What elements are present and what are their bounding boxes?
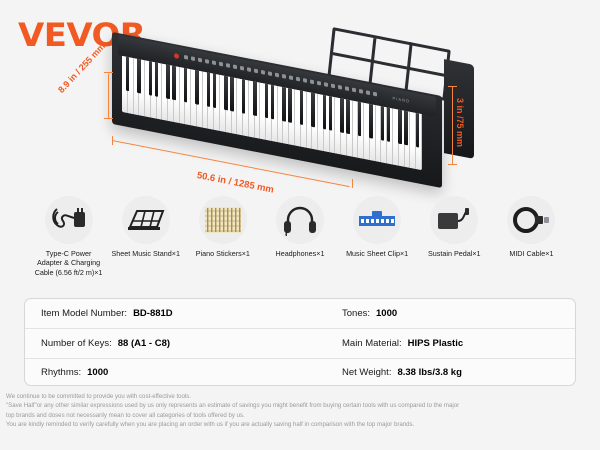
sheet-music-stand-icon — [122, 196, 170, 244]
spec-value: 1000 — [376, 308, 397, 319]
accessory-item-power-adapter: Type-C Power Adapter & Charging Cable (6… — [34, 196, 103, 277]
piano-brand-mark: PIANO — [393, 95, 410, 103]
depth-tick-top — [104, 72, 113, 73]
depth-tick-bottom — [104, 118, 113, 119]
accessory-item-sheet-music-stand: Sheet Music Stand×1 — [111, 196, 180, 258]
width-tick-right — [352, 179, 353, 188]
accessory-item-headphones: Headphones×1 — [265, 196, 334, 258]
disclaimer-line-2: "Save Half"or any other similar expressi… — [6, 401, 596, 410]
spec-cell-material: Main Material: HIPS Plastic — [300, 328, 575, 357]
power-adapter-icon — [45, 196, 93, 244]
spec-value: BD-881D — [133, 308, 173, 319]
accessory-label: Sheet Music Stand×1 — [111, 249, 180, 258]
disclaimer-line-3: top brands and doses not necessarily mea… — [6, 411, 596, 420]
sustain-pedal-icon — [430, 196, 478, 244]
specifications-table: Item Model Number: BD-881D Tones: 1000 N… — [24, 298, 576, 386]
disclaimer-text: We continue to be committed to provide y… — [6, 392, 596, 430]
table-row: Number of Keys: 88 (A1 - C8) Main Materi… — [25, 328, 575, 357]
spec-cell-keys: Number of Keys: 88 (A1 - C8) — [25, 328, 300, 357]
accessory-label: Headphones×1 — [276, 249, 325, 258]
power-indicator-icon — [174, 53, 179, 59]
accessories-list: Type-C Power Adapter & Charging Cable (6… — [0, 196, 600, 292]
accessory-item-piano-stickers: Piano Stickers×1 — [188, 196, 257, 258]
spec-cell-model: Item Model Number: BD-881D — [25, 299, 300, 328]
height-tick-bottom — [448, 164, 457, 165]
accessory-label: Type-C Power Adapter & Charging Cable (6… — [34, 249, 103, 277]
spec-value: 8.38 lbs/3.8 kg — [397, 367, 461, 378]
spec-key: Tones: — [342, 308, 370, 319]
height-guide-line — [452, 86, 453, 164]
spec-cell-tones: Tones: 1000 — [300, 299, 575, 328]
dimension-depth-label: 8.9 in / 255 mm — [56, 41, 107, 95]
product-hero-image: PIANO — [0, 36, 600, 196]
spec-cell-weight: Net Weight: 8.38 lbs/3.8 kg — [300, 358, 575, 387]
spec-key: Item Model Number: — [41, 308, 127, 319]
accessory-label: MIDI Cable×1 — [509, 249, 553, 258]
disclaimer-line-1: We continue to be committed to provide y… — [6, 392, 596, 401]
piano-stickers-icon — [199, 196, 247, 244]
table-row: Item Model Number: BD-881D Tones: 1000 — [25, 299, 575, 328]
music-sheet-clip-icon — [353, 196, 401, 244]
height-tick-top — [448, 86, 457, 87]
dimension-height-label: 3 in /75 mm — [455, 98, 465, 147]
midi-cable-icon — [507, 196, 555, 244]
accessory-label: Piano Stickers×1 — [196, 249, 250, 258]
accessory-label: Music Sheet Clip×1 — [346, 249, 408, 258]
spec-key: Main Material: — [342, 338, 402, 349]
accessory-label: Sustain Pedal×1 — [428, 249, 481, 258]
spec-key: Rhythms: — [41, 367, 81, 378]
accessory-item-midi-cable: MIDI Cable×1 — [497, 196, 566, 258]
spec-value: HIPS Plastic — [408, 338, 463, 349]
accessory-item-music-sheet-clip: Music Sheet Clip×1 — [343, 196, 412, 258]
spec-cell-rhythms: Rhythms: 1000 — [25, 358, 300, 387]
width-tick-left — [112, 136, 113, 145]
depth-guide-line — [108, 74, 109, 118]
spec-value: 88 (A1 - C8) — [118, 338, 170, 349]
digital-piano-illustration: PIANO — [112, 46, 472, 196]
spec-value: 1000 — [87, 367, 108, 378]
spec-key: Net Weight: — [342, 367, 391, 378]
table-row: Rhythms: 1000 Net Weight: 8.38 lbs/3.8 k… — [25, 358, 575, 387]
disclaimer-line-4: You are kindly reminded to verify carefu… — [6, 420, 596, 429]
headphones-icon — [276, 196, 324, 244]
accessory-item-sustain-pedal: Sustain Pedal×1 — [420, 196, 489, 258]
spec-key: Number of Keys: — [41, 338, 112, 349]
